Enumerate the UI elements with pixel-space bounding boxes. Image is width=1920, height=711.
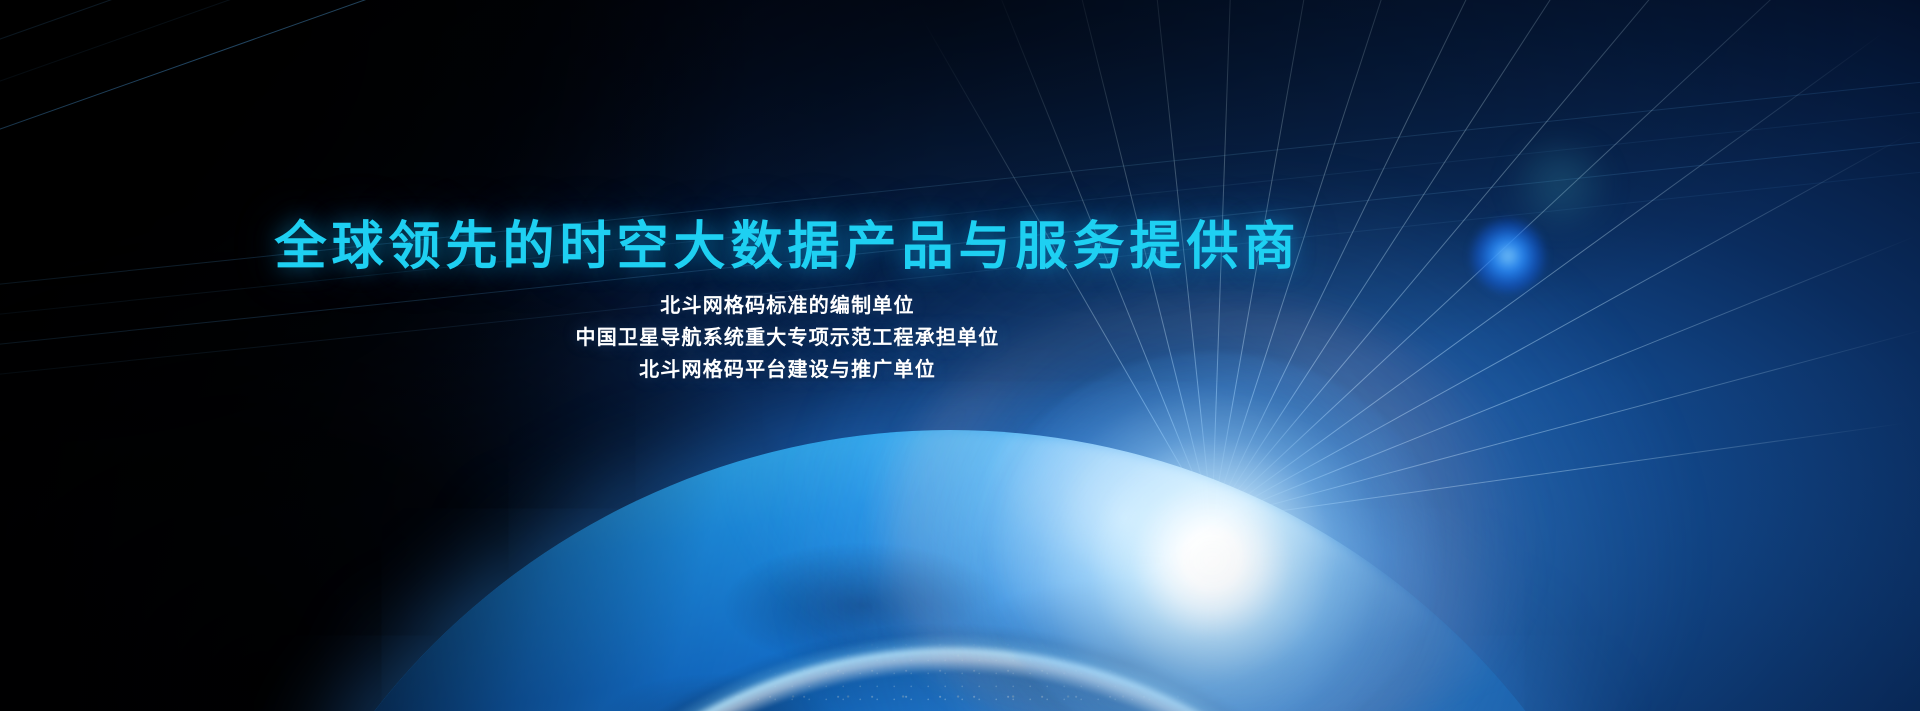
hero-banner: 全球领先的时空大数据产品与服务提供商 北斗网格码标准的编制单位 中国卫星导航系统…: [0, 0, 1920, 711]
lens-flare-blue-orb: [1470, 218, 1546, 294]
background-vignette: [0, 0, 1920, 711]
lens-flare-teal-orb: [1505, 140, 1615, 228]
